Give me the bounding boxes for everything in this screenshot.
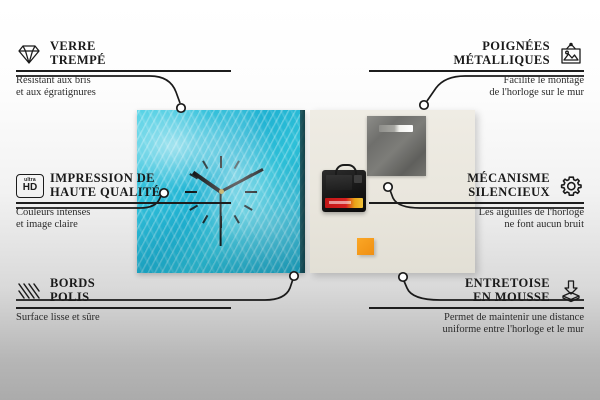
feature-title: POIGNÉES MÉTALLIQUES — [453, 40, 550, 67]
mechanism-label — [326, 175, 352, 190]
feature-description: Facilite le montage de l'horloge sur le … — [369, 72, 584, 100]
feature-header: POIGNÉES MÉTALLIQUES — [369, 40, 584, 70]
feature-title: MÉCANISME SILENCIEUX — [467, 172, 550, 199]
feature-header: ENTRETOISE EN MOUSSE — [369, 277, 584, 307]
feature-entretoise-en-mousse: ENTRETOISE EN MOUSSE Permet de maintenir… — [369, 277, 584, 337]
diamond-icon — [16, 42, 42, 66]
feature-description: Résistant aux bris et aux égratignures — [16, 72, 231, 100]
feature-verre-trempe: VERRE TREMPÉ Résistant aux bris et aux é… — [16, 40, 231, 100]
connector-dot-poignees — [420, 101, 428, 109]
feature-description: Permet de maintenir une distance uniform… — [369, 309, 584, 337]
battery — [325, 198, 363, 208]
feature-mecanisme-silencieux: MÉCANISME SILENCIEUX Les aiguilles de l'… — [369, 172, 584, 232]
infographic-canvas: VERRE TREMPÉ Résistant aux bris et aux é… — [0, 0, 600, 400]
feature-header: MÉCANISME SILENCIEUX — [369, 172, 584, 202]
feature-bords-polis: BORDS POLIS Surface lisse et sûre — [16, 277, 231, 324]
gear-icon — [558, 174, 584, 198]
feature-title: ENTRETOISE EN MOUSSE — [465, 277, 550, 304]
feature-description: Les aiguilles de l'horloge ne font aucun… — [369, 204, 584, 232]
clock-mechanism — [322, 170, 366, 212]
hanger-slot — [379, 125, 413, 132]
feature-title: IMPRESSION DE HAUTE QUALITÉ — [50, 172, 160, 199]
mechanism-knob — [354, 175, 362, 183]
wall-frame-icon — [558, 42, 584, 66]
mechanism-loop — [335, 164, 357, 175]
feature-poignees-metalliques: POIGNÉES MÉTALLIQUES Facilite le montage — [369, 40, 584, 100]
feature-header: ultra HD IMPRESSION DE HAUTE QUALITÉ — [16, 172, 231, 202]
feature-header: VERRE TREMPÉ — [16, 40, 231, 70]
feature-title: VERRE TREMPÉ — [50, 40, 106, 67]
foam-spacer — [357, 238, 374, 255]
feature-description: Couleurs intenses et image claire — [16, 204, 231, 232]
glass-edge — [300, 110, 305, 273]
feature-title: BORDS POLIS — [50, 277, 95, 304]
polished-edges-icon — [16, 279, 42, 303]
feature-description: Surface lisse et sûre — [16, 309, 231, 325]
foam-spacer-icon — [558, 279, 584, 303]
feature-header: BORDS POLIS — [16, 277, 231, 307]
connector-dot-bords — [290, 272, 298, 280]
metal-hanger — [367, 116, 426, 176]
feature-impression-haute-qualite: ultra HD IMPRESSION DE HAUTE QUALITÉ Cou… — [16, 172, 231, 232]
ultra-hd-icon: ultra HD — [16, 174, 42, 198]
